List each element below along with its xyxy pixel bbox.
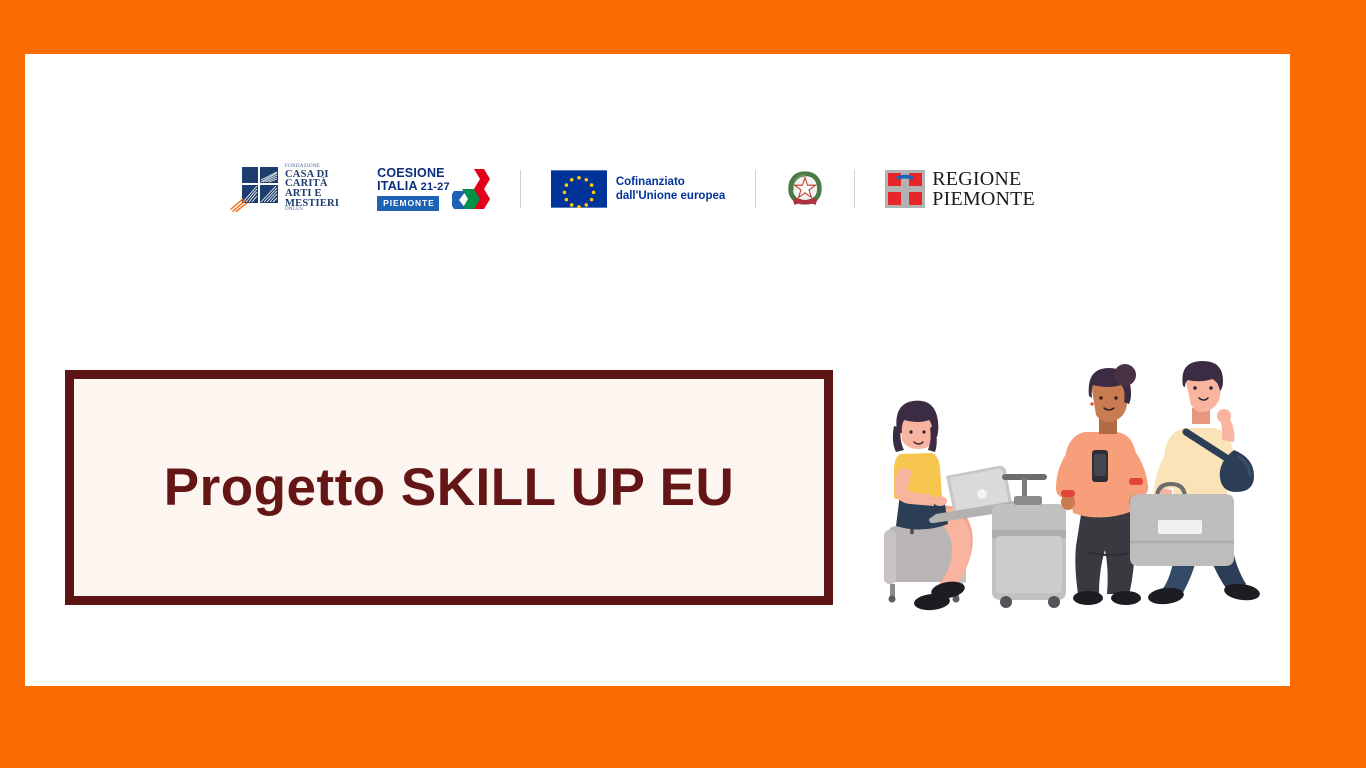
repubblica-italiana-emblem-icon bbox=[786, 168, 824, 210]
rp-line-2: PIEMONTE bbox=[932, 189, 1035, 209]
coesione-years: 21-27 bbox=[421, 182, 450, 193]
regione-piemonte-wordmark: REGIONE PIEMONTE bbox=[932, 169, 1035, 209]
figure-walking-man-with-bag bbox=[1130, 361, 1261, 606]
regione-piemonte-cross-icon bbox=[885, 170, 925, 208]
coesione-region-badge: PIEMONTE bbox=[377, 196, 439, 211]
rp-line-1: REGIONE bbox=[932, 169, 1035, 189]
logo-divider-3 bbox=[854, 170, 855, 208]
logo-regione-piemonte: REGIONE PIEMONTE bbox=[885, 158, 1035, 220]
project-title: Progetto SKILL UP EU bbox=[164, 457, 735, 518]
slide-white-card: FONDAZIONE CASA DI CARITÀ ARTI E MESTIER… bbox=[25, 54, 1290, 686]
slide-orange-frame: FONDAZIONE CASA DI CARITÀ ARTI E MESTIER… bbox=[0, 0, 1366, 768]
duffel-bag bbox=[1130, 484, 1234, 566]
coesione-chevron-arrows-icon bbox=[452, 167, 490, 211]
funding-logo-strip: FONDAZIONE CASA DI CARITÀ ARTI E MESTIER… bbox=[230, 158, 1110, 220]
eu-flag-icon bbox=[551, 170, 607, 208]
coesione-line-1: COESIONE bbox=[377, 167, 450, 180]
logo-coesione-italia: COESIONE ITALIA 21-27 PIEMONTE bbox=[377, 158, 490, 220]
logo-repubblica-italiana bbox=[786, 158, 824, 220]
eu-wordmark: Cofinanziato dall'Unione europea bbox=[616, 175, 725, 204]
logo-divider-1 bbox=[520, 170, 521, 208]
figure-standing-woman-with-phone bbox=[1056, 364, 1148, 605]
project-title-box: Progetto SKILL UP EU bbox=[65, 370, 833, 605]
coesione-line-2: ITALIA bbox=[377, 180, 418, 193]
logo-unione-europea: Cofinanziato dall'Unione europea bbox=[551, 158, 725, 220]
casa-di-carita-wordmark: FONDAZIONE CASA DI CARITÀ ARTI E MESTIER… bbox=[285, 165, 339, 213]
three-travellers-illustration bbox=[870, 354, 1290, 614]
logo-divider-2 bbox=[755, 170, 756, 208]
logo-casa-di-carita: FONDAZIONE CASA DI CARITÀ ARTI E MESTIER… bbox=[230, 158, 339, 220]
ccam-line-onlus: ONLUS bbox=[285, 208, 339, 213]
casa-di-carita-mark-icon bbox=[230, 166, 280, 212]
eu-line-2: dall'Unione europea bbox=[616, 189, 725, 203]
eu-line-1: Cofinanziato bbox=[616, 175, 725, 189]
